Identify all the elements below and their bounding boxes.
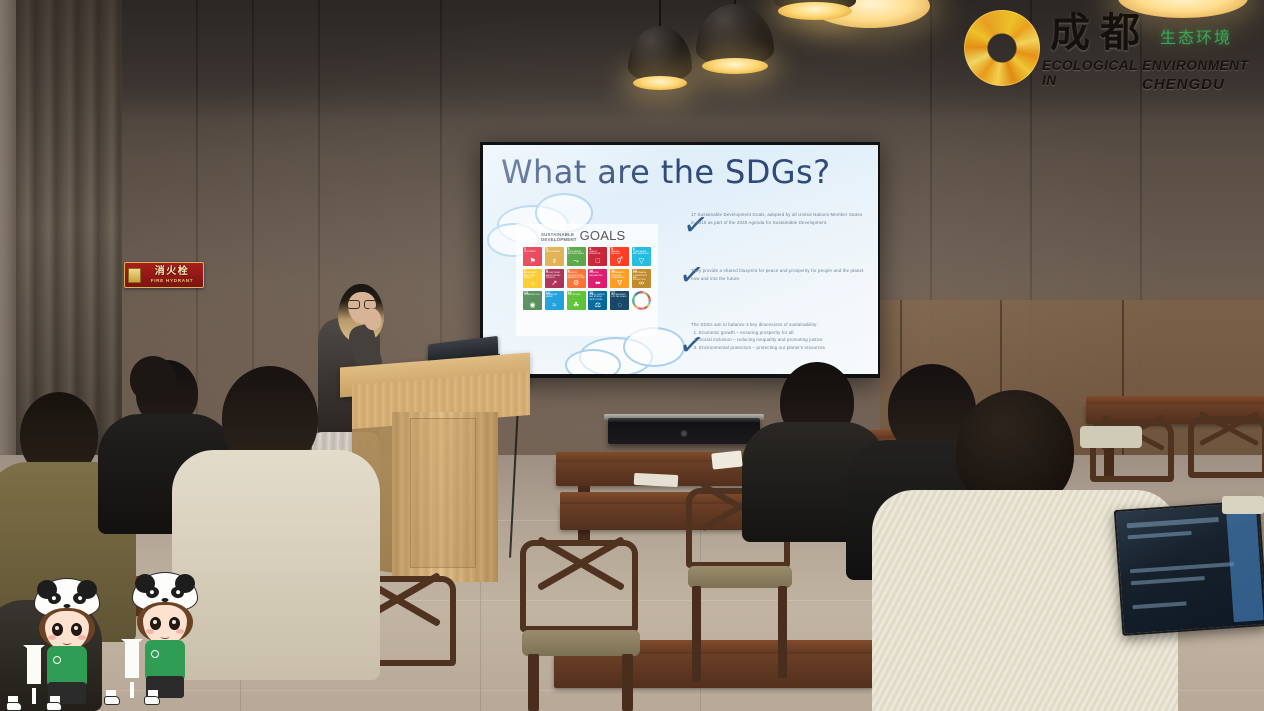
sdg-goal-title: INDUSTRY, INNOVATION AND INFRASTRUCTURE [568, 272, 585, 279]
fire-hydrant-icon [128, 268, 141, 283]
sdg-goal-tile: 7AFFORDABLE AND CLEAN ENERGY☼ [523, 269, 542, 288]
mascot-mouth [161, 634, 170, 639]
sdg-color-wheel-icon [632, 291, 651, 310]
cloud-shape [565, 349, 621, 374]
sdg-goal-tile: 17PARTNERSHIPS FOR THE GOALS◌ [610, 291, 629, 310]
sdg-goal-icon: ᐁ [617, 280, 622, 287]
mascot-jacket-logo [53, 656, 61, 664]
panda-eye-patch [47, 592, 62, 606]
mascot-shoe [144, 696, 160, 705]
mascot-cheek [48, 635, 56, 640]
slide-bullet-lead: The SDGs aim to balance 3 key dimensions… [691, 321, 867, 329]
cushion [1080, 426, 1142, 448]
sdg-goal-icon: ∞ [639, 280, 644, 287]
mascot-shoe [104, 696, 120, 705]
sdg-label-goals: GOALS [580, 230, 626, 242]
laptop-screen-row [1128, 531, 1192, 539]
photo-scene: 消火栓 FIRE HYDRANT What are the SDGs? SUST… [0, 0, 1264, 711]
sdg-goal-icon: ⚙ [573, 280, 579, 287]
sdg-goal-icon: ⚖ [595, 302, 601, 309]
sdg-goal-icon: ⚥ [616, 258, 622, 265]
mascot-mouth [63, 640, 72, 645]
sdg-goal-title: NO POVERTY [524, 251, 541, 253]
sdg-goal-icon: ⬌ [595, 280, 601, 287]
sdg-goal-title: GENDER EQUALITY [611, 251, 628, 255]
sdg-goal-title: CLIMATE ACTION [524, 294, 541, 296]
chair-leg [622, 654, 633, 711]
paper-sheet [634, 473, 679, 487]
sdg-goal-icon: ☼ [529, 280, 535, 287]
pendant-glow [702, 58, 768, 74]
panda-eye-patch [145, 586, 160, 600]
sdg-goal-icon: ⚑ [529, 258, 535, 265]
sdg-goal-icon: ☘ [573, 302, 579, 309]
slide-bullet-list: Economic growth – ensuring prosperity fo… [691, 329, 867, 352]
sdg-goal-tile: 2ZERO HUNGER⌽ [545, 247, 564, 266]
sdg-goal-title: DECENT WORK AND ECONOMIC GROWTH [546, 272, 563, 279]
conference-table [554, 654, 874, 688]
sdg-goal-tile: 4QUALITY EDUCATION□ [588, 247, 607, 266]
mascot-jacket-logo [151, 650, 159, 658]
mascot-shoe [6, 702, 22, 711]
sdg-goal-tile: 16PEACE, JUSTICE AND STRONG INSTITUTIONS… [588, 291, 607, 310]
audience-head [130, 356, 176, 402]
mascot-shoe [46, 702, 62, 711]
sdg-goal-title: SUSTAINABLE CITIES AND COMMUNITIES [611, 272, 628, 279]
sdg-goal-tile: 3GOOD HEALTH AND WELL-BEING⤳ [567, 247, 586, 266]
sdg-goal-tile: 10REDUCED INEQUALITIES⬌ [588, 269, 607, 288]
sdg-goal-tile: 11SUSTAINABLE CITIES AND COMMUNITIESᐁ [610, 269, 629, 288]
sdg-goal-tile: 1NO POVERTY⚑ [523, 247, 542, 266]
mascot-eye [150, 617, 161, 630]
sdg-goal-tile: 15LIFE ON LAND☘ [567, 291, 586, 310]
slide-bullet-text: 17 Sustainable Development Goals, adopte… [691, 211, 867, 226]
pendant-light [690, 0, 780, 80]
audience-laptop [1114, 500, 1264, 636]
chair-leg [692, 586, 701, 682]
mascot-cheek [146, 629, 154, 634]
pendant-light [620, 0, 700, 100]
mascot-legs [32, 688, 36, 704]
cushion [1222, 496, 1264, 514]
chair-seat [522, 630, 640, 656]
pendant-light [770, 0, 860, 30]
pendant-cord [659, 0, 661, 28]
slide-bullet-list-item: Economic growth – ensuring prosperity fo… [699, 329, 867, 337]
glasses-icon [347, 300, 377, 307]
projection-screen-frame: What are the SDGs? SUSTAINABLE DEVELOPME… [480, 142, 880, 378]
laptop-screen-row [1130, 562, 1234, 573]
sdg-goal-icon: ▽ [639, 258, 644, 265]
sdg-goal-title: ZERO HUNGER [546, 251, 563, 253]
fire-hydrant-label-cn: 消火栓 [155, 267, 190, 277]
laptop-screen-row [1132, 601, 1186, 609]
presentation-slide: What are the SDGs? SUSTAINABLE DEVELOPME… [483, 145, 878, 374]
sdg-goal-title: QUALITY EDUCATION [589, 251, 606, 255]
sdg-goals-grid: 1NO POVERTY⚑2ZERO HUNGER⌽3GOOD HEALTH AN… [523, 247, 651, 310]
paper-sheet [711, 450, 743, 469]
fire-hydrant-label-en: FIRE HYDRANT [151, 279, 194, 284]
mascot-jacket [145, 640, 185, 680]
slide-bullet-list-item: Social inclusion – reducing inequality a… [699, 336, 867, 344]
sdg-goal-title: AFFORDABLE AND CLEAN ENERGY [524, 272, 541, 279]
pendant-shade [628, 26, 692, 82]
sdg-goal-icon: ◉ [530, 302, 536, 309]
sdg-goal-tile: 8DECENT WORK AND ECONOMIC GROWTH↗ [545, 269, 564, 288]
mascot-cheek [176, 629, 184, 634]
laptop-screen-row [1131, 576, 1205, 585]
panda-eye [176, 590, 181, 595]
chair-leg [778, 586, 787, 678]
left-wall-pillar [0, 0, 16, 520]
sdg-goals-card: SUSTAINABLE DEVELOPMENT GOALS 1NO POVERT… [516, 224, 658, 336]
sdg-goal-icon: ◌ [618, 302, 622, 309]
sdg-label-development: DEVELOPMENT [541, 237, 577, 242]
sdg-goal-title: CLEAN WATER AND SANITATION [633, 251, 650, 255]
panda-eye [51, 596, 56, 601]
camera-lens-icon [681, 430, 688, 437]
sdg-goal-title: LIFE BELOW WATER [546, 294, 563, 298]
sdg-goal-tile: 9INDUSTRY, INNOVATION AND INFRASTRUCTURE… [567, 269, 586, 288]
sdg-goal-title: PARTNERSHIPS FOR THE GOALS [611, 294, 628, 298]
pendant-glow [633, 76, 687, 90]
slide-title: What are the SDGs? [501, 153, 831, 191]
laptop-screen-panel [1226, 508, 1264, 622]
panda-eye [149, 590, 154, 595]
pendant-shade [696, 4, 774, 66]
mascot-legs [130, 682, 134, 698]
podium-panel-inset [410, 418, 476, 568]
sdg-goal-icon: ⌽ [552, 258, 556, 265]
sdg-goal-title: GOOD HEALTH AND WELL-BEING [568, 251, 585, 255]
slide-bullet-text: They provide a shared blueprint for peac… [691, 267, 867, 282]
mascot-cheek [78, 635, 86, 640]
mascot-eye [52, 623, 63, 636]
panda-eye [78, 596, 83, 601]
sdg-goal-icon: □ [596, 258, 600, 265]
sdg-goal-icon: ↗ [551, 280, 557, 287]
mascot-jacket [47, 646, 87, 686]
sdg-goal-title: PEACE, JUSTICE AND STRONG INSTITUTIONS [589, 294, 606, 301]
audience-torso [172, 450, 380, 680]
sdg-goal-icon: ⤳ [573, 258, 579, 265]
laptop-screen-row [1127, 517, 1219, 528]
sdg-goal-tile: 14LIFE BELOW WATER≈ [545, 291, 564, 310]
sdg-goal-tile: 5GENDER EQUALITY⚥ [610, 247, 629, 266]
fire-hydrant-sign: 消火栓 FIRE HYDRANT [124, 262, 204, 288]
sdg-goal-title: LIFE ON LAND [568, 294, 585, 296]
av-soundbar [608, 418, 760, 444]
sdg-goals-heading: SUSTAINABLE DEVELOPMENT GOALS [523, 230, 651, 242]
slide-bullet-text: The SDGs aim to balance 3 key dimensions… [691, 321, 867, 351]
sdg-goal-tile: 13CLIMATE ACTION◉ [523, 291, 542, 310]
pendant-glow [778, 2, 852, 20]
sdg-goal-icon: ≈ [552, 302, 556, 309]
sdg-goal-title: REDUCED INEQUALITIES [589, 272, 606, 276]
chair-seat [688, 566, 792, 588]
chair-leg [528, 654, 539, 711]
sdg-goal-tile: 6CLEAN WATER AND SANITATION▽ [632, 247, 651, 266]
slide-bullet-list-item: Environmental protection – protecting ou… [699, 344, 867, 352]
sdg-goal-tile: 12RESPONSIBLE CONSUMPTION AND PRODUCTION… [632, 269, 651, 288]
